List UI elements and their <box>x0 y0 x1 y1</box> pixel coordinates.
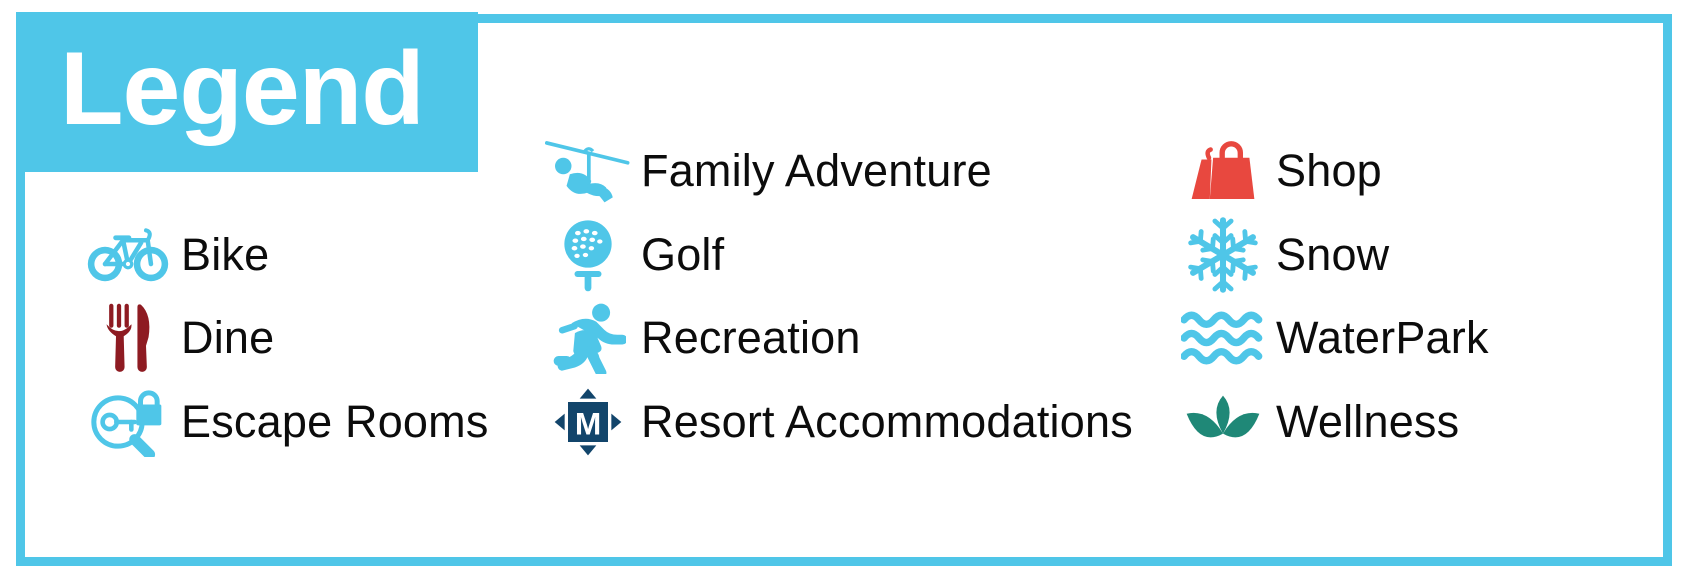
legend-column-2: Family Adventure Golf <box>545 23 1145 557</box>
lotus-icon <box>1180 382 1266 462</box>
legend-item-wellness[interactable]: Wellness <box>1180 380 1459 464</box>
marriott-m-icon: M <box>545 382 631 462</box>
legend-item-label: Resort Accommodations <box>631 396 1133 448</box>
legend-item-snow[interactable]: Snow <box>1180 213 1389 297</box>
legend-item-label: Escape Rooms <box>171 396 489 448</box>
shopping-bags-icon <box>1180 131 1266 211</box>
key-lock-icon <box>85 382 171 462</box>
legend-item-label: Golf <box>631 229 724 281</box>
legend-item-escape-rooms[interactable]: Escape Rooms <box>85 380 489 464</box>
legend-column-3: Shop Snow <box>1180 23 1640 557</box>
legend-item-recreation[interactable]: Recreation <box>545 296 861 380</box>
legend-header-ribbon: Legend <box>16 12 478 172</box>
golf-ball-icon <box>545 215 631 295</box>
legend-item-label: Family Adventure <box>631 145 992 197</box>
fork-knife-icon <box>85 298 171 378</box>
legend-item-label: Bike <box>171 229 269 281</box>
legend-item-golf[interactable]: Golf <box>545 213 724 297</box>
legend-item-family-adventure[interactable]: Family Adventure <box>545 129 992 213</box>
legend-item-bike[interactable]: Bike <box>85 213 269 297</box>
zipline-icon <box>545 131 631 211</box>
legend-panel: Legend Bike Dine <box>0 0 1698 588</box>
page-title: Legend <box>60 37 424 141</box>
legend-item-shop[interactable]: Shop <box>1180 129 1382 213</box>
svg-text:M: M <box>575 406 601 442</box>
legend-item-resort-accommodations[interactable]: M Resort Accommodations <box>545 380 1133 464</box>
legend-item-label: Shop <box>1266 145 1382 197</box>
waves-icon <box>1180 298 1266 378</box>
legend-item-label: Dine <box>171 312 274 364</box>
legend-item-label: Wellness <box>1266 396 1459 448</box>
snowflake-icon <box>1180 215 1266 295</box>
runner-icon <box>545 298 631 378</box>
legend-item-label: Snow <box>1266 229 1389 281</box>
bike-icon <box>85 215 171 295</box>
legend-item-label: Recreation <box>631 312 861 364</box>
legend-item-dine[interactable]: Dine <box>85 296 274 380</box>
legend-item-label: WaterPark <box>1266 312 1489 364</box>
legend-item-waterpark[interactable]: WaterPark <box>1180 296 1489 380</box>
